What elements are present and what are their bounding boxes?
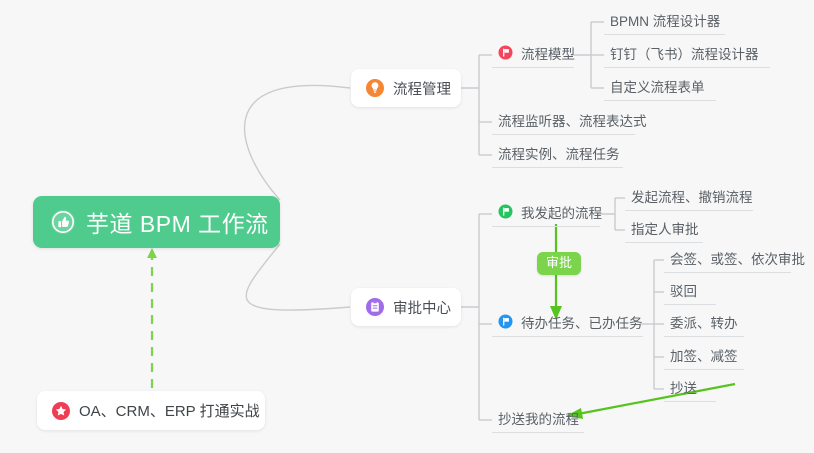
leaf-daiban-renwu[interactable]: 待办任务、已办任务 (492, 312, 643, 337)
thumbs-up-icon (50, 209, 76, 235)
leaf-label-chaosong-wode: 抄送我的流程 (498, 408, 579, 428)
leaf-label-wo-faqi: 我发起的流程 (521, 202, 602, 222)
leaf-label-liucheng-shili: 流程实例、流程任务 (498, 143, 620, 163)
arrow-bottom-note-to-root (147, 248, 157, 388)
root-label: 芋道 BPM 工作流 (86, 205, 269, 239)
flag-icon (498, 204, 513, 219)
leaf-faqi-chexiao[interactable]: 发起流程、撤销流程 (625, 186, 753, 211)
leaf-label-zhidingren-shenpi: 指定人审批 (631, 218, 699, 238)
leaf-label-liucheng-moxing: 流程模型 (521, 43, 575, 63)
leaf-jiaqian[interactable]: 加签、减签 (664, 345, 744, 370)
clipboard-icon (365, 297, 385, 317)
leaf-zhidingren-shenpi[interactable]: 指定人审批 (625, 218, 703, 243)
leaf-weipai[interactable]: 委派、转办 (664, 312, 744, 337)
leaf-label-jiaqian: 加签、减签 (670, 345, 738, 365)
leaf-label-weipai: 委派、转办 (670, 312, 738, 332)
branch-label-liucheng-guanli: 流程管理 (393, 78, 451, 99)
star-icon (51, 401, 71, 421)
branch-label-shenpi-zhongxin: 审批中心 (393, 297, 451, 318)
leaf-dingding-designer[interactable]: 钉钉（飞书）流程设计器 (604, 43, 770, 68)
leaf-label-bpmn-designer: BPMN 流程设计器 (610, 10, 720, 30)
leaf-label-faqi-chexiao: 发起流程、撤销流程 (631, 186, 753, 206)
leaf-label-dingding-designer: 钉钉（飞书）流程设计器 (610, 43, 759, 63)
leaf-chaosong-wode[interactable]: 抄送我的流程 (492, 408, 584, 433)
leaf-label-bohui: 驳回 (670, 280, 697, 300)
leaf-liucheng-jianting[interactable]: 流程监听器、流程表达式 (492, 110, 635, 135)
leaf-chaosong[interactable]: 抄送 (664, 377, 716, 402)
bottom-note-label: OA、CRM、ERP 打通实战 (79, 400, 260, 421)
link-root-to-liucheng-guanli (245, 85, 350, 200)
leaf-label-custom-form: 自定义流程表单 (610, 76, 705, 96)
leaf-custom-form[interactable]: 自定义流程表单 (604, 76, 716, 101)
annotation-badge-shenpi: 审批 (537, 252, 581, 275)
leaf-liucheng-moxing[interactable]: 流程模型 (492, 43, 574, 68)
leaf-liucheng-shili[interactable]: 流程实例、流程任务 (492, 143, 623, 168)
flag-icon (498, 45, 513, 60)
link-root-to-shenpi-zhongxin (246, 244, 350, 310)
leaf-wo-faqi[interactable]: 我发起的流程 (492, 202, 600, 227)
bottom-note-node[interactable]: OA、CRM、ERP 打通实战 (37, 391, 265, 430)
mindmap-canvas: 芋道 BPM 工作流 流程管理 流程模型 流程监听器、流程表达式 流程实例、流 (0, 0, 814, 453)
flag-icon (498, 314, 513, 329)
leaf-label-chaosong: 抄送 (670, 377, 697, 397)
leaf-bpmn-designer[interactable]: BPMN 流程设计器 (604, 10, 725, 35)
leaf-bohui[interactable]: 驳回 (664, 280, 716, 305)
lightbulb-icon (365, 78, 385, 98)
leaf-label-liucheng-jianting: 流程监听器、流程表达式 (498, 110, 647, 130)
root-node[interactable]: 芋道 BPM 工作流 (33, 196, 280, 248)
leaf-label-huiqian: 会签、或签、依次审批 (670, 248, 805, 268)
leaf-label-daiban-renwu: 待办任务、已办任务 (521, 312, 643, 332)
branch-node-liucheng-guanli[interactable]: 流程管理 (351, 69, 461, 107)
branch-node-shenpi-zhongxin[interactable]: 审批中心 (351, 288, 461, 326)
leaf-huiqian[interactable]: 会签、或签、依次审批 (664, 248, 791, 273)
